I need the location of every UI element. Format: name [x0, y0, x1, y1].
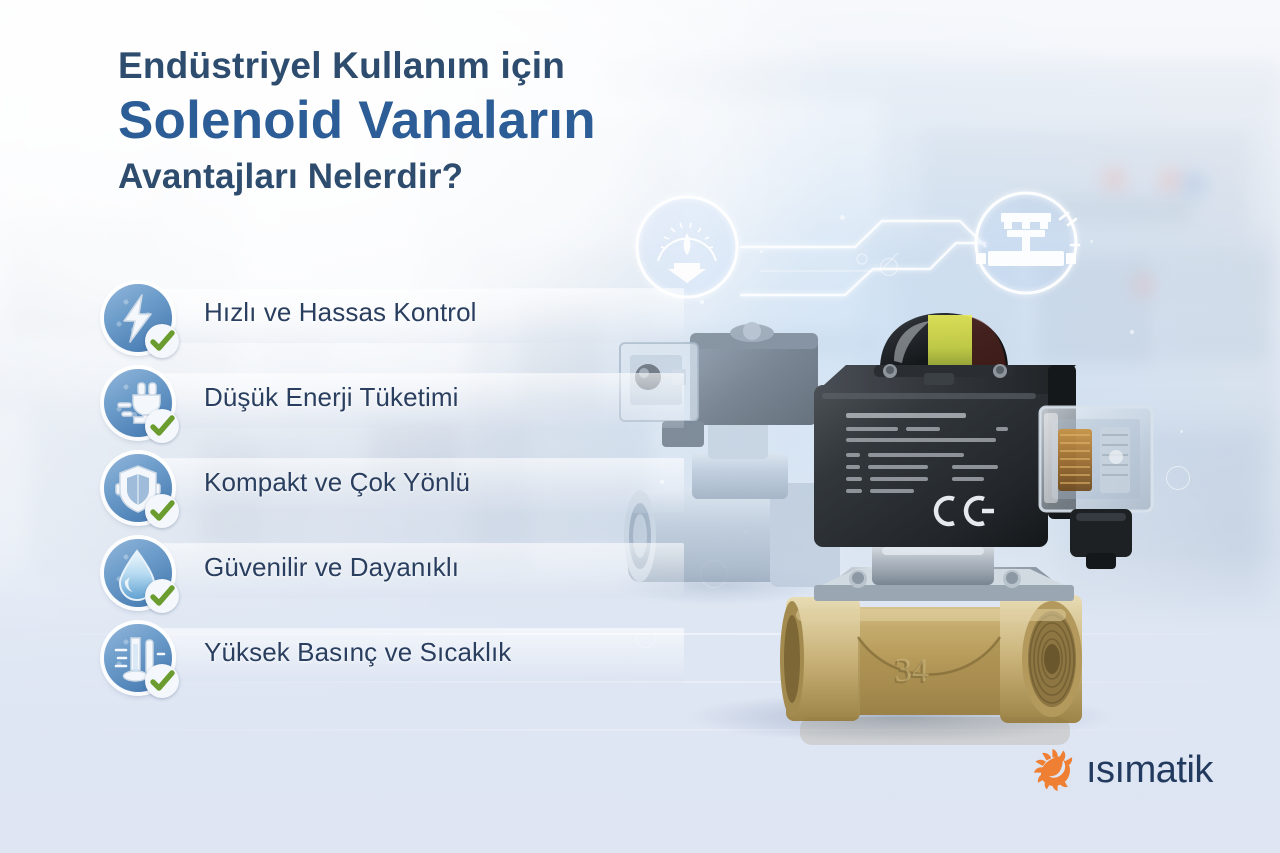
- feature-label: Yüksek Basınç ve Sıcaklık: [204, 637, 511, 668]
- headline-line-2: Solenoid Vanaların: [118, 90, 758, 153]
- feature-label: Kompakt ve Çok Yönlü: [204, 467, 470, 498]
- brand-name: ısımatik: [1086, 749, 1213, 792]
- headline-line-1: Endüstriyel Kullanım için: [118, 44, 758, 88]
- check-badge: [145, 409, 179, 443]
- brand-logo[interactable]: ısımatik: [1030, 745, 1213, 795]
- headline-line-3: Avantajları Nelerdir?: [118, 156, 758, 198]
- feature-list: Hızlı ve Hassas Kontrol: [104, 284, 624, 709]
- check-icon: [145, 494, 179, 528]
- check-badge: [145, 494, 179, 528]
- headline-block: Endüstriyel Kullanım için Solenoid Vanal…: [118, 44, 758, 198]
- indicator-window: [928, 315, 972, 369]
- feature-label: Hızlı ve Hassas Kontrol: [204, 297, 477, 328]
- feature-item: Yüksek Basınç ve Sıcaklık: [104, 624, 624, 686]
- check-icon: [145, 324, 179, 358]
- check-icon: [145, 664, 179, 698]
- feature-item: Düşük Enerji Tüketimi: [104, 369, 624, 431]
- check-icon: [145, 409, 179, 443]
- check-badge: [145, 579, 179, 613]
- coil-dome: [874, 313, 1014, 385]
- check-badge: [145, 664, 179, 698]
- solenoid-coil: [814, 365, 1076, 547]
- feature-label: Düşük Enerji Tüketimi: [204, 382, 458, 413]
- infographic-canvas: 34 34: [0, 0, 1280, 853]
- feature-label: Güvenilir ve Dayanıklı: [204, 552, 459, 583]
- product-image: 34 34: [600, 285, 1160, 755]
- check-icon: [145, 579, 179, 613]
- feature-item: Kompakt ve Çok Yönlü: [104, 454, 624, 516]
- feature-item: Hızlı ve Hassas Kontrol: [104, 284, 624, 346]
- feature-item: Güvenilir ve Dayanıklı: [104, 539, 624, 601]
- din-connector: [1040, 407, 1152, 569]
- brass-valve-body: 34 34: [780, 595, 1082, 723]
- sun-leaf-icon: [1030, 745, 1080, 795]
- svg-text:34: 34: [895, 652, 929, 689]
- check-badge: [145, 324, 179, 358]
